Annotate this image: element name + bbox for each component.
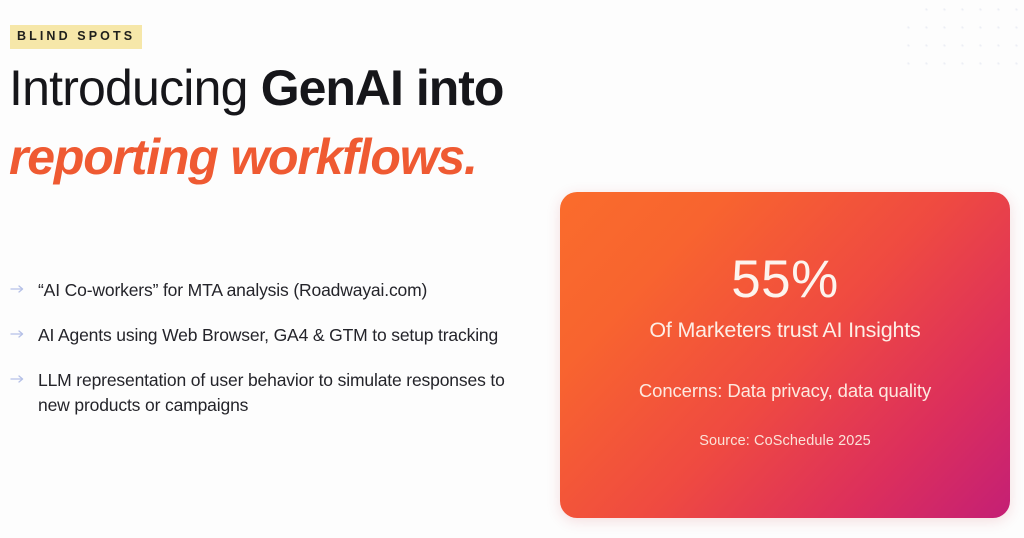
page-title: Introducing GenAI into reporting workflo…	[9, 54, 709, 190]
stat-value: 55%	[731, 250, 839, 310]
stat-note: Concerns: Data privacy, data quality	[639, 378, 931, 404]
heading-line-1-strong: GenAI into	[261, 60, 504, 116]
heading-line-2: reporting workflows.	[9, 124, 709, 190]
eyebrow-label: BLIND SPOTS	[10, 25, 142, 49]
heading-line-1-light: Introducing	[9, 60, 261, 116]
arrow-right-icon	[10, 368, 38, 385]
bullet-list: “AI Co-workers” for MTA analysis (Roadwa…	[10, 278, 530, 418]
list-item-label: LLM representation of user behavior to s…	[38, 368, 530, 418]
stat-source: Source: CoSchedule 2025	[699, 430, 871, 452]
list-item-label: “AI Co-workers” for MTA analysis (Roadwa…	[38, 278, 427, 303]
stat-caption: Of Marketers trust AI Insights	[649, 316, 920, 344]
arrow-right-icon	[10, 278, 38, 295]
stat-card: 55% Of Marketers trust AI Insights Conce…	[560, 192, 1010, 518]
list-item: AI Agents using Web Browser, GA4 & GTM t…	[10, 323, 530, 348]
arrow-right-icon	[10, 323, 38, 340]
heading-line-1: Introducing GenAI into	[9, 54, 709, 122]
eyebrow-wrapper: BLIND SPOTS	[10, 25, 142, 49]
halftone-arc-dots-icon	[822, 0, 1024, 98]
slide-canvas: BLIND SPOTS Introducing GenAI into repor…	[0, 0, 1024, 538]
list-item-label: AI Agents using Web Browser, GA4 & GTM t…	[38, 323, 498, 348]
list-item: LLM representation of user behavior to s…	[10, 368, 530, 418]
list-item: “AI Co-workers” for MTA analysis (Roadwa…	[10, 278, 530, 303]
